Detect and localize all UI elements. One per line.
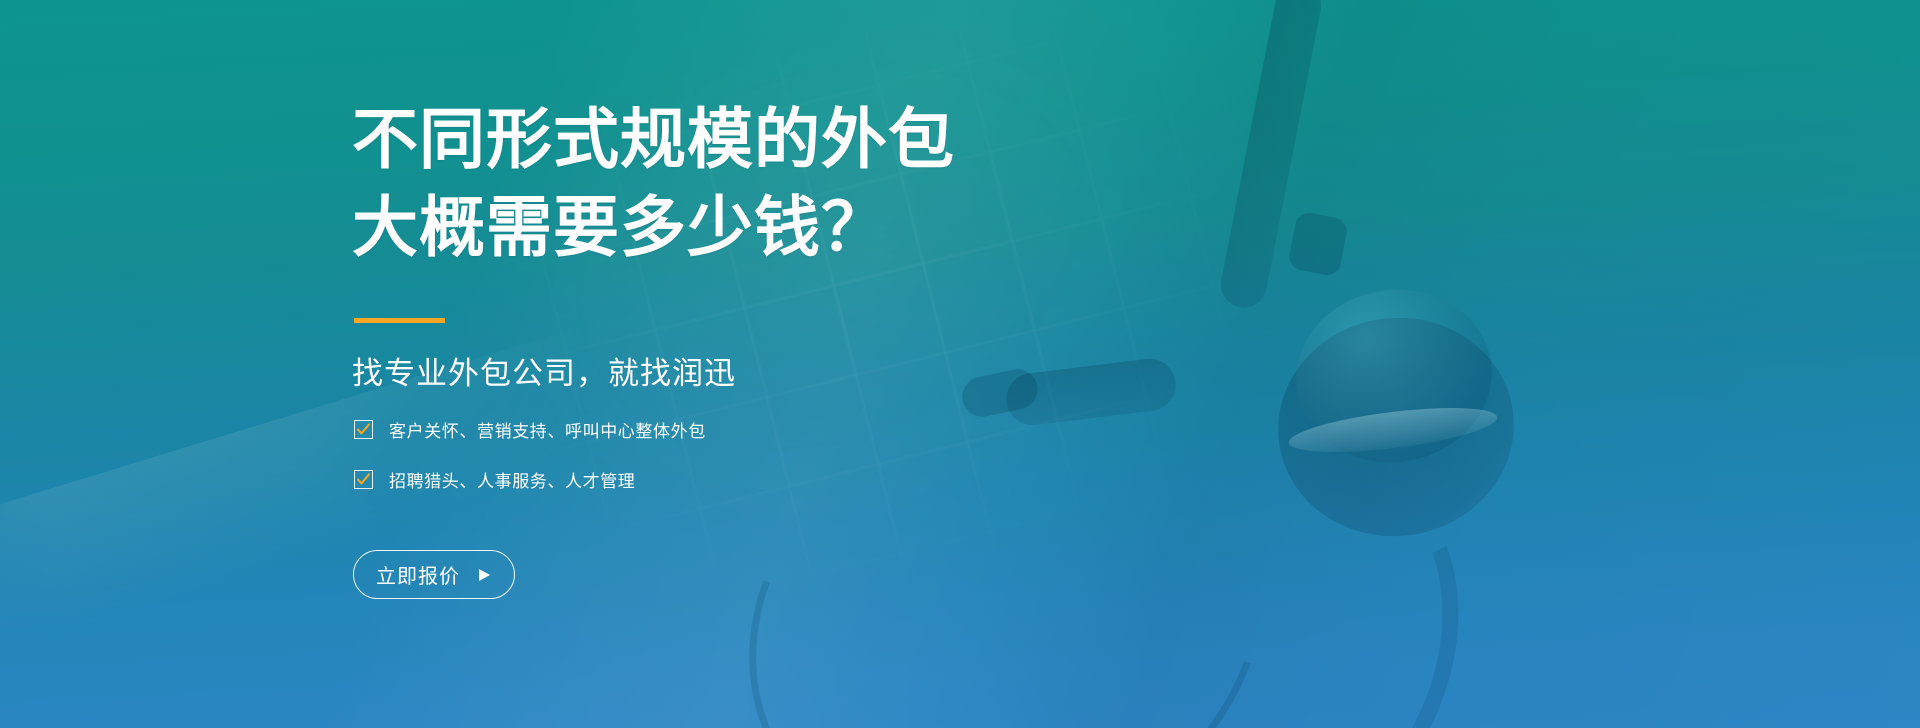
get-quote-button-label: 立即报价	[376, 560, 460, 589]
get-quote-button[interactable]: 立即报价	[353, 550, 515, 599]
headset-earcup-ring-icon	[1287, 399, 1500, 460]
headset-earcup-outer-icon	[1264, 303, 1528, 552]
checkbox-checked-icon	[354, 420, 373, 439]
headset-band-joint-icon	[1287, 211, 1349, 278]
list-item: 招聘猎头、人事服务、人才管理	[354, 468, 706, 490]
list-item: 客户关怀、营销支持、呼叫中心整体外包	[354, 418, 706, 440]
headline-line-1: 不同形式规模的外包	[352, 96, 955, 184]
checkbox-checked-icon	[354, 470, 373, 489]
headset-earcup-inner-icon	[1285, 277, 1503, 475]
accent-divider	[354, 318, 445, 323]
feature-label: 客户关怀、营销支持、呼叫中心整体外包	[389, 417, 706, 442]
hero-banner: 不同形式规模的外包 大概需要多少钱？ 找专业外包公司，就找润迅 客户关怀、营销支…	[0, 0, 1920, 728]
feature-label: 招聘猎头、人事服务、人才管理	[389, 467, 635, 492]
page-title: 不同形式规模的外包 大概需要多少钱？	[352, 96, 955, 272]
banner-content: 不同形式规模的外包 大概需要多少钱？ 找专业外包公司，就找润迅 客户关怀、营销支…	[352, 0, 1252, 728]
play-triangle-icon	[476, 567, 492, 583]
banner-subtitle: 找专业外包公司，就找润迅	[352, 348, 736, 393]
feature-list: 客户关怀、营销支持、呼叫中心整体外包 招聘猎头、人事服务、人才管理	[354, 418, 706, 518]
headline-line-2: 大概需要多少钱？	[352, 184, 955, 272]
